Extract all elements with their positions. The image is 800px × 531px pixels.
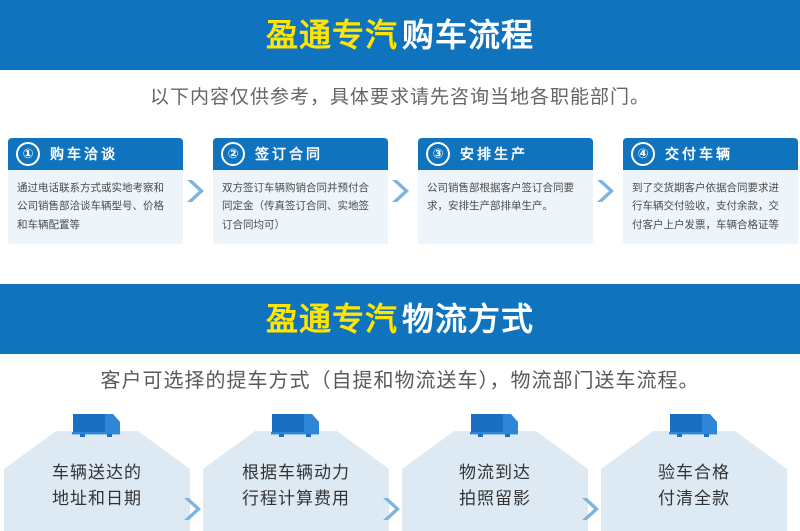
step-title: 交付车辆 (665, 144, 733, 164)
step-title: 安排生产 (460, 144, 528, 164)
section-2-banner: 盈通专汽物流方式 (0, 284, 800, 354)
chevron-right-icon (183, 178, 205, 204)
section-1-banner-suffix: 购车流程 (398, 17, 534, 53)
logistics-card: 车辆送达的 地址和日期 (4, 408, 190, 531)
purchase-steps: ① 购车洽谈 通过电话联系方式或实地考察和公司销售部洽谈车辆型号、价格和车辆配置… (0, 138, 800, 248)
section-2-banner-suffix: 物流方式 (398, 301, 534, 337)
section-2-subtitle: 客户可选择的提车方式（自提和物流送车），物流部门送车流程。 (0, 364, 800, 393)
section-2-banner-title: 盈通专汽物流方式 (266, 303, 534, 335)
logistics-card-line-2: 拍照留影 (402, 486, 588, 512)
brand-name: 盈通专汽 (266, 301, 398, 337)
step-card: ① 购车洽谈 通过电话联系方式或实地考察和公司销售部洽谈车辆型号、价格和车辆配置… (8, 138, 183, 244)
truck-icon (668, 408, 720, 438)
logistics-card-text: 车辆送达的 地址和日期 (4, 460, 190, 513)
brand-name: 盈通专汽 (266, 17, 398, 53)
step-card: ② 签订合同 双方签订车辆购销合同并预付合同定金（传真签订合同、实地签订合同均可… (213, 138, 388, 244)
step-number-badge: ② (221, 142, 245, 166)
truck-icon (270, 408, 322, 438)
truck-icon (469, 408, 521, 438)
logistics-card: 验车合格 付清全款 (601, 408, 787, 531)
logistics-card-text: 验车合格 付清全款 (601, 460, 787, 513)
step-title: 签订合同 (255, 144, 323, 164)
chevron-right-icon (593, 178, 615, 204)
step-card: ④ 交付车辆 到了交货期客户依据合同要求进行车辆交付验收，支付余款，交付客户上户… (623, 138, 798, 244)
step-body: 到了交货期客户依据合同要求进行车辆交付验收，支付余款，交付客户上户发票，车辆合格… (623, 170, 798, 234)
step-body: 双方签订车辆购销合同并预付合同定金（传真签订合同、实地签订合同均可） (213, 170, 388, 234)
step-number-badge: ① (16, 142, 40, 166)
logistics-card-text: 根据车辆动力 行程计算费用 (203, 460, 389, 513)
step-body: 通过电话联系方式或实地考察和公司销售部洽谈车辆型号、价格和车辆配置等 (8, 170, 183, 234)
truck-icon (71, 408, 123, 438)
logistics-card-line-1: 物流到达 (402, 460, 588, 486)
logistics-card: 物流到达 拍照留影 (402, 408, 588, 531)
step-card: ③ 安排生产 公司销售部根据客户签订合同要求，安排生产部排单生产。 (418, 138, 593, 244)
logistics-card-line-2: 行程计算费用 (203, 486, 389, 512)
logistics-card: 根据车辆动力 行程计算费用 (203, 408, 389, 531)
step-header: ② 签订合同 (213, 138, 388, 170)
step-number-badge: ③ (426, 142, 450, 166)
logistics-card-line-1: 根据车辆动力 (203, 460, 389, 486)
chevron-right-icon (578, 496, 600, 522)
step-number-badge: ④ (631, 142, 655, 166)
logistics-card-line-2: 付清全款 (601, 486, 787, 512)
step-header: ① 购车洽谈 (8, 138, 183, 170)
logistics-card-text: 物流到达 拍照留影 (402, 460, 588, 513)
chevron-right-icon (379, 496, 401, 522)
step-body: 公司销售部根据客户签订合同要求，安排生产部排单生产。 (418, 170, 593, 216)
section-1-banner: 盈通专汽购车流程 (0, 0, 800, 70)
chevron-right-icon (388, 178, 410, 204)
logistics-card-line-1: 验车合格 (601, 460, 787, 486)
promo-page: 盈通专汽购车流程 以下内容仅供参考，具体要求请先咨询当地各职能部门。 ① 购车洽… (0, 0, 800, 531)
logistics-steps: 车辆送达的 地址和日期 根据车辆动力 行程计算费用 (0, 408, 800, 531)
step-header: ③ 安排生产 (418, 138, 593, 170)
section-1-subtitle: 以下内容仅供参考，具体要求请先咨询当地各职能部门。 (0, 82, 800, 109)
step-header: ④ 交付车辆 (623, 138, 798, 170)
section-1-banner-title: 盈通专汽购车流程 (266, 19, 534, 51)
step-title: 购车洽谈 (50, 144, 118, 164)
logistics-card-line-2: 地址和日期 (4, 486, 190, 512)
logistics-card-line-1: 车辆送达的 (4, 460, 190, 486)
chevron-right-icon (180, 496, 202, 522)
